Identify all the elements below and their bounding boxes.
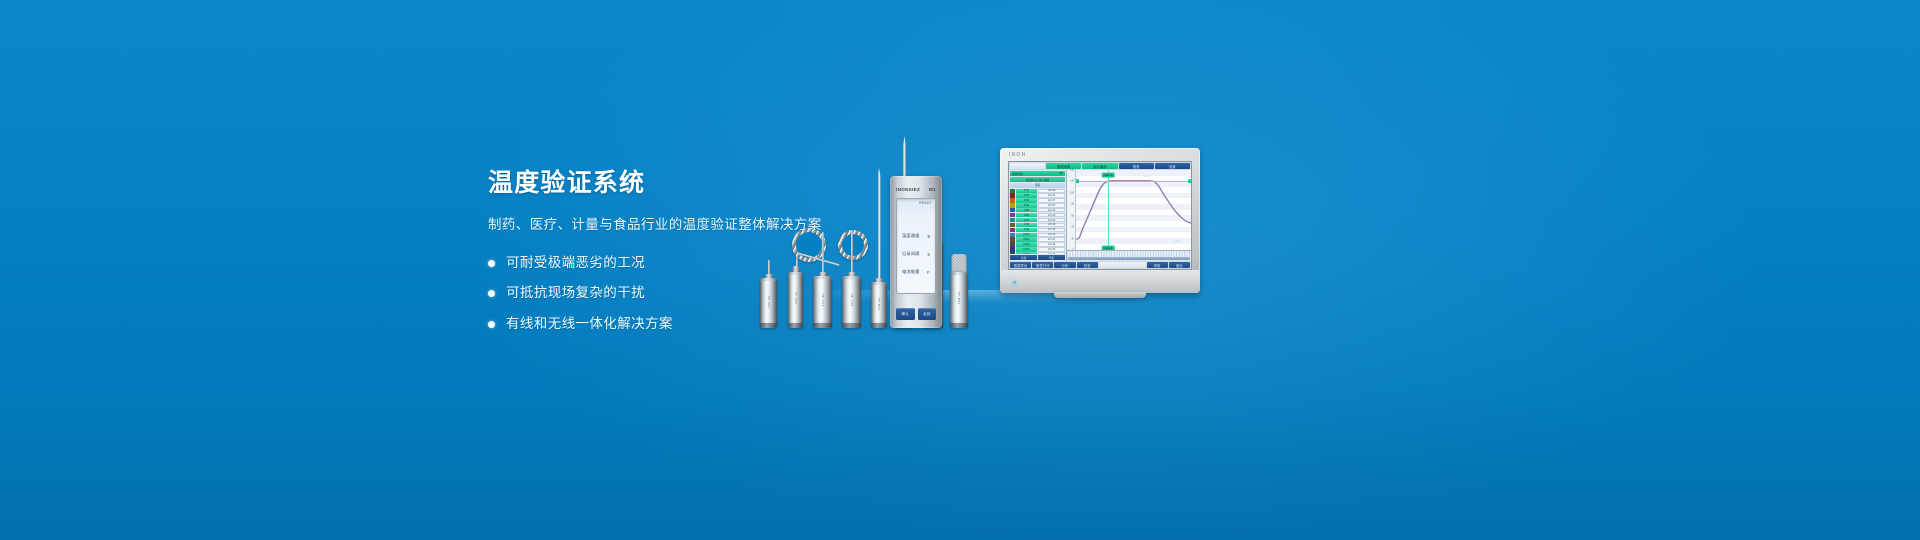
- table-footer-select-all[interactable]: 全选: [1010, 255, 1037, 260]
- chart-annotation: 灭菌开始: [1102, 172, 1115, 177]
- channel-color-swatch: [1010, 247, 1015, 251]
- cell-value: 121.27: [1038, 198, 1065, 202]
- cell-value: 121.39: [1038, 252, 1065, 254]
- table-row[interactable]: CH7121.29: [1010, 218, 1065, 222]
- chart-canvas: 灭菌开始灭菌结束F0 值平台段: [1076, 170, 1191, 250]
- reader-row-value: 8: [927, 234, 930, 239]
- y-axis-tick: 100: [1070, 191, 1074, 194]
- channel-table: 通道列表 8/8 温度验证记录仪通道 通道 CH1121.38 CH2121.4…: [1009, 170, 1067, 261]
- monitor-brand-logo: INON: [1009, 152, 1026, 158]
- table-row[interactable]: CH5121.33: [1010, 208, 1065, 212]
- bottom-button-help[interactable]: 帮助: [1147, 262, 1168, 268]
- monitor-stand: [1054, 292, 1146, 298]
- banner-copy: 温度验证系统 制药、医疗、计量与食品行业的温度验证整体解决方案 可耐受极端恶劣的…: [488, 168, 918, 346]
- table-header: 通道列表 8/8: [1010, 171, 1065, 176]
- table-row[interactable]: CH8121.46: [1010, 223, 1065, 227]
- cell-value: 121.31: [1038, 237, 1065, 241]
- chart-range-handle[interactable]: [1076, 179, 1079, 183]
- cell-value: 121.42: [1038, 233, 1065, 237]
- table-row[interactable]: CH14121.39: [1010, 252, 1065, 254]
- toolbar-button-realtime[interactable]: 实时曲线: [1082, 163, 1117, 169]
- monitor-screen: 数据采集 实时曲线 报表 设置 通道列表 8/8 温度验证记录仪通道 通道: [1008, 161, 1192, 270]
- cell-value: 121.33: [1038, 208, 1065, 212]
- channel-color-swatch: [1010, 213, 1015, 217]
- table-row[interactable]: CH13121.26: [1010, 247, 1065, 251]
- channel-color-swatch: [1010, 208, 1015, 212]
- y-axis-tick: 140: [1070, 169, 1074, 172]
- table-row[interactable]: CH6121.40: [1010, 213, 1065, 217]
- cell-channel: CH11: [1016, 237, 1038, 241]
- cell-value: 121.35: [1038, 228, 1065, 232]
- table-rows: CH1121.38 CH2121.44 CH3121.27 CH4121.51 …: [1010, 189, 1065, 255]
- software-bottom-bar: 数据导出 报表打印 分析 校准 帮助 退出: [1009, 261, 1191, 269]
- chart-horizontal-scrollbar[interactable]: [1067, 250, 1191, 261]
- bottom-button-exit[interactable]: 退出: [1169, 262, 1190, 268]
- cell-channel: CH1: [1016, 189, 1038, 193]
- software-body: 通道列表 8/8 温度验证记录仪通道 通道 CH1121.38 CH2121.4…: [1009, 170, 1191, 261]
- bottom-button-calibrate[interactable]: 校准: [1077, 262, 1098, 268]
- toolbar-spacer: [1010, 163, 1045, 169]
- table-footer-export[interactable]: 导出: [1038, 255, 1065, 260]
- reader-row-value: F: [927, 270, 930, 275]
- cell-channel: CH3: [1016, 198, 1038, 202]
- list-item: 可耐受极端恶劣的工况: [488, 254, 918, 273]
- feature-label: 可耐受极端恶劣的工况: [506, 254, 645, 273]
- reader-row-value: 5: [927, 252, 930, 257]
- table-row[interactable]: CH3121.27: [1010, 198, 1065, 202]
- chart-annotation: 平台段: [1174, 239, 1181, 243]
- logger-label: TP-M41: [957, 291, 961, 304]
- channel-color-swatch: [1010, 198, 1015, 202]
- bullet-dot-icon: [488, 260, 495, 267]
- toolbar-button-acquire[interactable]: 数据采集: [1046, 163, 1081, 169]
- table-row[interactable]: CH12121.48: [1010, 242, 1065, 246]
- cell-value: 121.46: [1038, 223, 1065, 227]
- channel-color-swatch: [1010, 189, 1015, 193]
- chart-y-axis: 020406080100120140: [1067, 170, 1076, 250]
- cell-value: 121.29: [1038, 218, 1065, 222]
- y-axis-tick: 120: [1070, 180, 1074, 183]
- cell-channel: CH4: [1016, 203, 1038, 207]
- software-toolbar: 数据采集 实时曲线 报表 设置: [1009, 162, 1191, 170]
- column-header-channel: 通道: [1035, 183, 1040, 187]
- chart-threshold-line: [1076, 181, 1191, 182]
- channel-color-swatch: [1010, 252, 1015, 254]
- reader-status: READY: [919, 201, 932, 205]
- promo-banner: 温度验证系统 制药、医疗、计量与食品行业的温度验证整体解决方案 可耐受极端恶劣的…: [0, 0, 1920, 540]
- channel-color-swatch: [1010, 237, 1015, 241]
- table-footer: 全选 导出: [1010, 255, 1065, 260]
- page-title: 温度验证系统: [488, 168, 918, 198]
- channel-color-swatch: [1010, 203, 1015, 207]
- temperature-chart: 020406080100120140 灭菌开始灭菌结束F0 值平台段: [1067, 170, 1191, 261]
- cell-channel: CH8: [1016, 223, 1038, 227]
- table-column-headers: 通道: [1010, 183, 1065, 188]
- list-item: 可抵抗现场复杂的干扰: [488, 284, 918, 303]
- power-led-icon: [1013, 281, 1016, 284]
- reader-model-label: M1: [929, 187, 936, 192]
- y-axis-tick: 20: [1071, 237, 1074, 240]
- validation-software-monitor: INON 数据采集 实时曲线 报表 设置 通道列表 8/8 温度验证记录仪通道: [1000, 148, 1200, 293]
- reader-key-back[interactable]: 返回: [918, 308, 937, 320]
- cell-value: 121.40: [1038, 213, 1065, 217]
- channel-color-swatch: [1010, 193, 1015, 197]
- wireless-logger-mesh-cap: TP-M41: [950, 252, 968, 328]
- y-axis-tick: 60: [1071, 214, 1074, 217]
- table-count: 8/8: [1059, 172, 1063, 175]
- cell-value: 121.44: [1038, 193, 1065, 197]
- toolbar-button-report[interactable]: 报表: [1119, 163, 1154, 169]
- channel-color-swatch: [1010, 223, 1015, 227]
- cell-value: 121.51: [1038, 203, 1065, 207]
- cell-channel: CH9: [1016, 228, 1038, 232]
- table-row[interactable]: CH4121.51: [1010, 203, 1065, 207]
- y-axis-tick: 40: [1071, 226, 1074, 229]
- channel-color-swatch: [1010, 233, 1015, 237]
- cell-channel: CH2: [1016, 193, 1038, 197]
- bullet-dot-icon: [488, 290, 495, 297]
- cell-value: 121.48: [1038, 242, 1065, 246]
- feature-label: 有线和无线一体化解决方案: [506, 315, 673, 334]
- channel-color-swatch: [1010, 242, 1015, 246]
- bottom-button-analyze[interactable]: 分析: [1054, 262, 1075, 268]
- table-title: 通道列表: [1012, 172, 1023, 176]
- table-row[interactable]: CH2121.44: [1010, 193, 1065, 197]
- series-line: [1076, 181, 1191, 240]
- cell-channel: CH12: [1016, 242, 1038, 246]
- bottom-button-export[interactable]: 数据导出: [1010, 262, 1031, 268]
- bottom-button-print[interactable]: 报表打印: [1032, 262, 1053, 268]
- cell-channel: CH6: [1016, 213, 1038, 217]
- list-item: 有线和无线一体化解决方案: [488, 315, 918, 334]
- cell-channel: CH10: [1016, 233, 1038, 237]
- cell-value: 121.26: [1038, 247, 1065, 251]
- sintered-cap-icon: [952, 254, 967, 274]
- cell-channel: CH13: [1016, 247, 1038, 251]
- table-row[interactable]: CH1121.38: [1010, 189, 1065, 193]
- bullet-dot-icon: [488, 321, 495, 328]
- table-row[interactable]: CH11121.31: [1010, 237, 1065, 241]
- chart-cursor-line[interactable]: [1108, 170, 1109, 250]
- cell-value: 121.38: [1038, 189, 1065, 193]
- feature-label: 可抵抗现场复杂的干扰: [506, 284, 645, 303]
- table-row[interactable]: CH9121.35: [1010, 228, 1065, 232]
- monitor-chin: [1000, 270, 1200, 293]
- chart-plot-area: 020406080100120140 灭菌开始灭菌结束F0 值平台段: [1067, 170, 1191, 250]
- y-axis-tick: 80: [1071, 203, 1074, 206]
- table-row[interactable]: CH10121.42: [1010, 233, 1065, 237]
- table-subtitle: 温度验证记录仪通道: [1010, 177, 1065, 182]
- bottom-bar-spacer: [1099, 262, 1146, 268]
- feature-list: 可耐受极端恶劣的工况 可抵抗现场复杂的干扰 有线和无线一体化解决方案: [488, 254, 918, 335]
- channel-color-swatch: [1010, 228, 1015, 232]
- page-subtitle: 制药、医疗、计量与食品行业的温度验证整体解决方案: [488, 215, 918, 235]
- cell-channel: CH7: [1016, 218, 1038, 222]
- chart-range-handle[interactable]: [1188, 179, 1191, 183]
- chart-annotation: F0 值: [1144, 174, 1150, 178]
- logger-body: TP-M41: [950, 272, 968, 328]
- cell-channel: CH14: [1016, 252, 1038, 254]
- channel-color-swatch: [1010, 218, 1015, 222]
- cell-channel: CH5: [1016, 208, 1038, 212]
- toolbar-button-settings[interactable]: 设置: [1155, 163, 1190, 169]
